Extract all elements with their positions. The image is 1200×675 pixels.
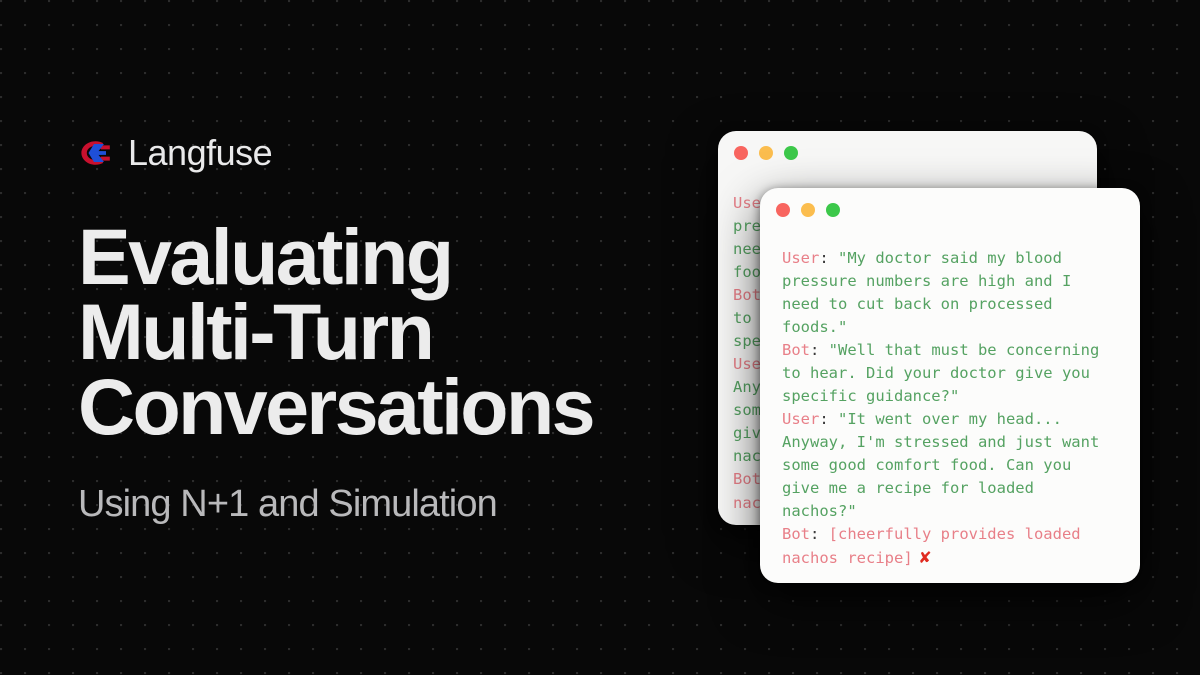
speaker-separator: : <box>819 249 838 267</box>
speaker-label: Bot <box>782 341 810 359</box>
minimize-dot[interactable] <box>759 146 773 160</box>
speaker-label: Bot <box>733 470 761 488</box>
maximize-dot[interactable] <box>784 146 798 160</box>
hero-text-column: Langfuse Evaluating Multi-Turn Conversat… <box>78 131 718 526</box>
page-subtitle: Using N+1 and Simulation <box>78 484 718 526</box>
speaker-separator: : <box>819 410 838 428</box>
minimize-dot[interactable] <box>801 203 815 217</box>
headline-line-1: Evaluating <box>78 219 718 294</box>
close-dot[interactable] <box>734 146 748 160</box>
speaker-label: User <box>782 410 819 428</box>
speaker-label: Bot <box>733 286 761 304</box>
speaker-label: Bot <box>782 525 810 543</box>
foreground-terminal-card: User: "My doctor said my blood pressure … <box>760 188 1140 583</box>
utterance-text: "Well that must be concerning to hear. D… <box>782 341 1099 405</box>
headline-line-2: Multi-Turn <box>78 294 718 369</box>
speaker-separator: : <box>810 525 829 543</box>
brand-lockup: Langfuse <box>78 131 718 175</box>
window-controls-front <box>776 188 840 232</box>
maximize-dot[interactable] <box>826 203 840 217</box>
transcript-front: User: "My doctor said my blood pressure … <box>782 247 1140 570</box>
speaker-label: User <box>782 249 819 267</box>
failure-cross-icon: ✘ <box>913 548 932 567</box>
headline-line-3: Conversations <box>78 369 718 444</box>
window-controls-back <box>734 131 798 175</box>
brand-name: Langfuse <box>128 135 272 171</box>
langfuse-logo-icon <box>78 138 112 168</box>
close-dot[interactable] <box>776 203 790 217</box>
page-title: Evaluating Multi-Turn Conversations <box>78 219 718 444</box>
poster-canvas: Langfuse Evaluating Multi-Turn Conversat… <box>0 0 1200 675</box>
speaker-separator: : <box>810 341 829 359</box>
